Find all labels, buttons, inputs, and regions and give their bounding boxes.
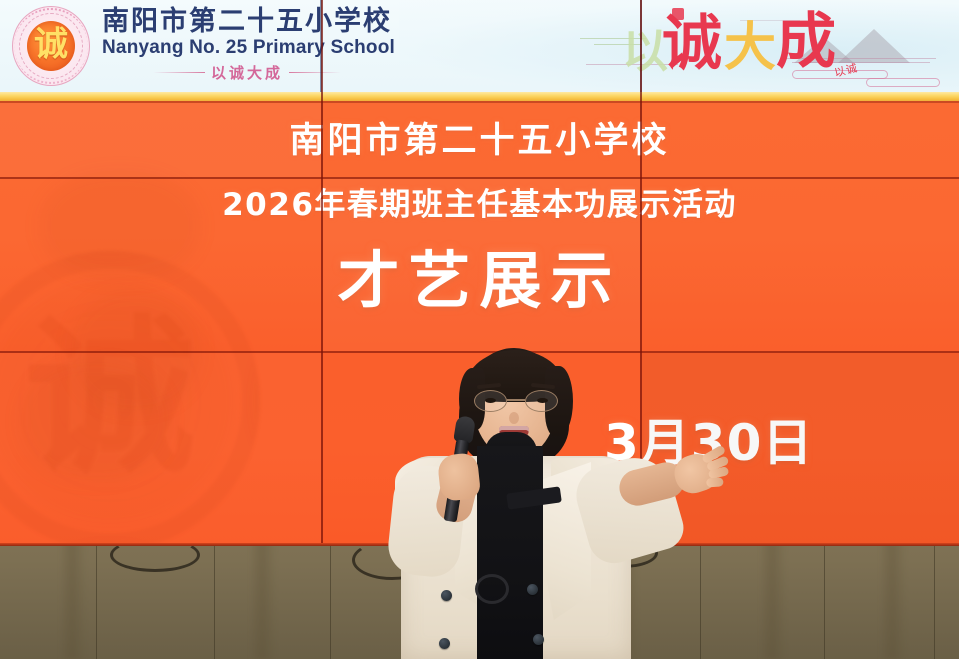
slide-title-line-2: 2026年春期班主任基本功展示活动 (0, 190, 959, 221)
panel-seam-horizontal (0, 177, 959, 179)
panel-seam-horizontal (0, 101, 959, 103)
seal-character: 诚 (12, 28, 90, 62)
seal-mark-icon (672, 8, 684, 20)
coat-button (439, 638, 450, 649)
coat-button (441, 590, 452, 601)
calligraphy-char-2: 诚 (662, 14, 722, 74)
school-name-english: Nanyang No. 25 Primary School (102, 37, 392, 59)
inner-black-top (477, 446, 543, 659)
motto-rule-left (153, 72, 205, 73)
calligraphy-seal-text: 以诚 (832, 59, 859, 80)
calligraphy-char-3: 大 (724, 22, 776, 74)
hand-holding-microphone (437, 452, 482, 502)
calligraphy-char-4: 成 (776, 12, 836, 72)
nose (509, 412, 519, 424)
school-identity: 南阳市第二十五小学校 Nanyang No. 25 Primary School… (102, 7, 392, 83)
coat-button (527, 584, 538, 595)
belt-loop (475, 574, 509, 604)
panel-seam-vertical (321, 0, 323, 546)
eye (537, 398, 548, 403)
motto-rule-right (289, 72, 341, 73)
slide-banner: 诚 南阳市第二十五小学校 Nanyang No. 25 Primary Scho… (0, 0, 959, 92)
slide-title-line-1: 南阳市第二十五小学校 (0, 124, 959, 159)
motto-calligraphy: 以 诚 大 成 以诚 (620, 6, 940, 88)
slide-headline: 才艺展示 (0, 250, 959, 312)
coat-button (533, 634, 544, 645)
school-motto: 以诚大成 (211, 62, 283, 83)
presenter (381, 338, 681, 659)
school-motto-row: 以诚大成 (102, 62, 392, 83)
school-name-chinese: 南阳市第二十五小学校 (102, 7, 392, 36)
eye (485, 398, 496, 403)
photo-scene: 诚 南阳市第二十五小学校 Nanyang No. 25 Primary Scho… (0, 0, 959, 659)
school-seal-icon: 诚 (12, 6, 90, 86)
